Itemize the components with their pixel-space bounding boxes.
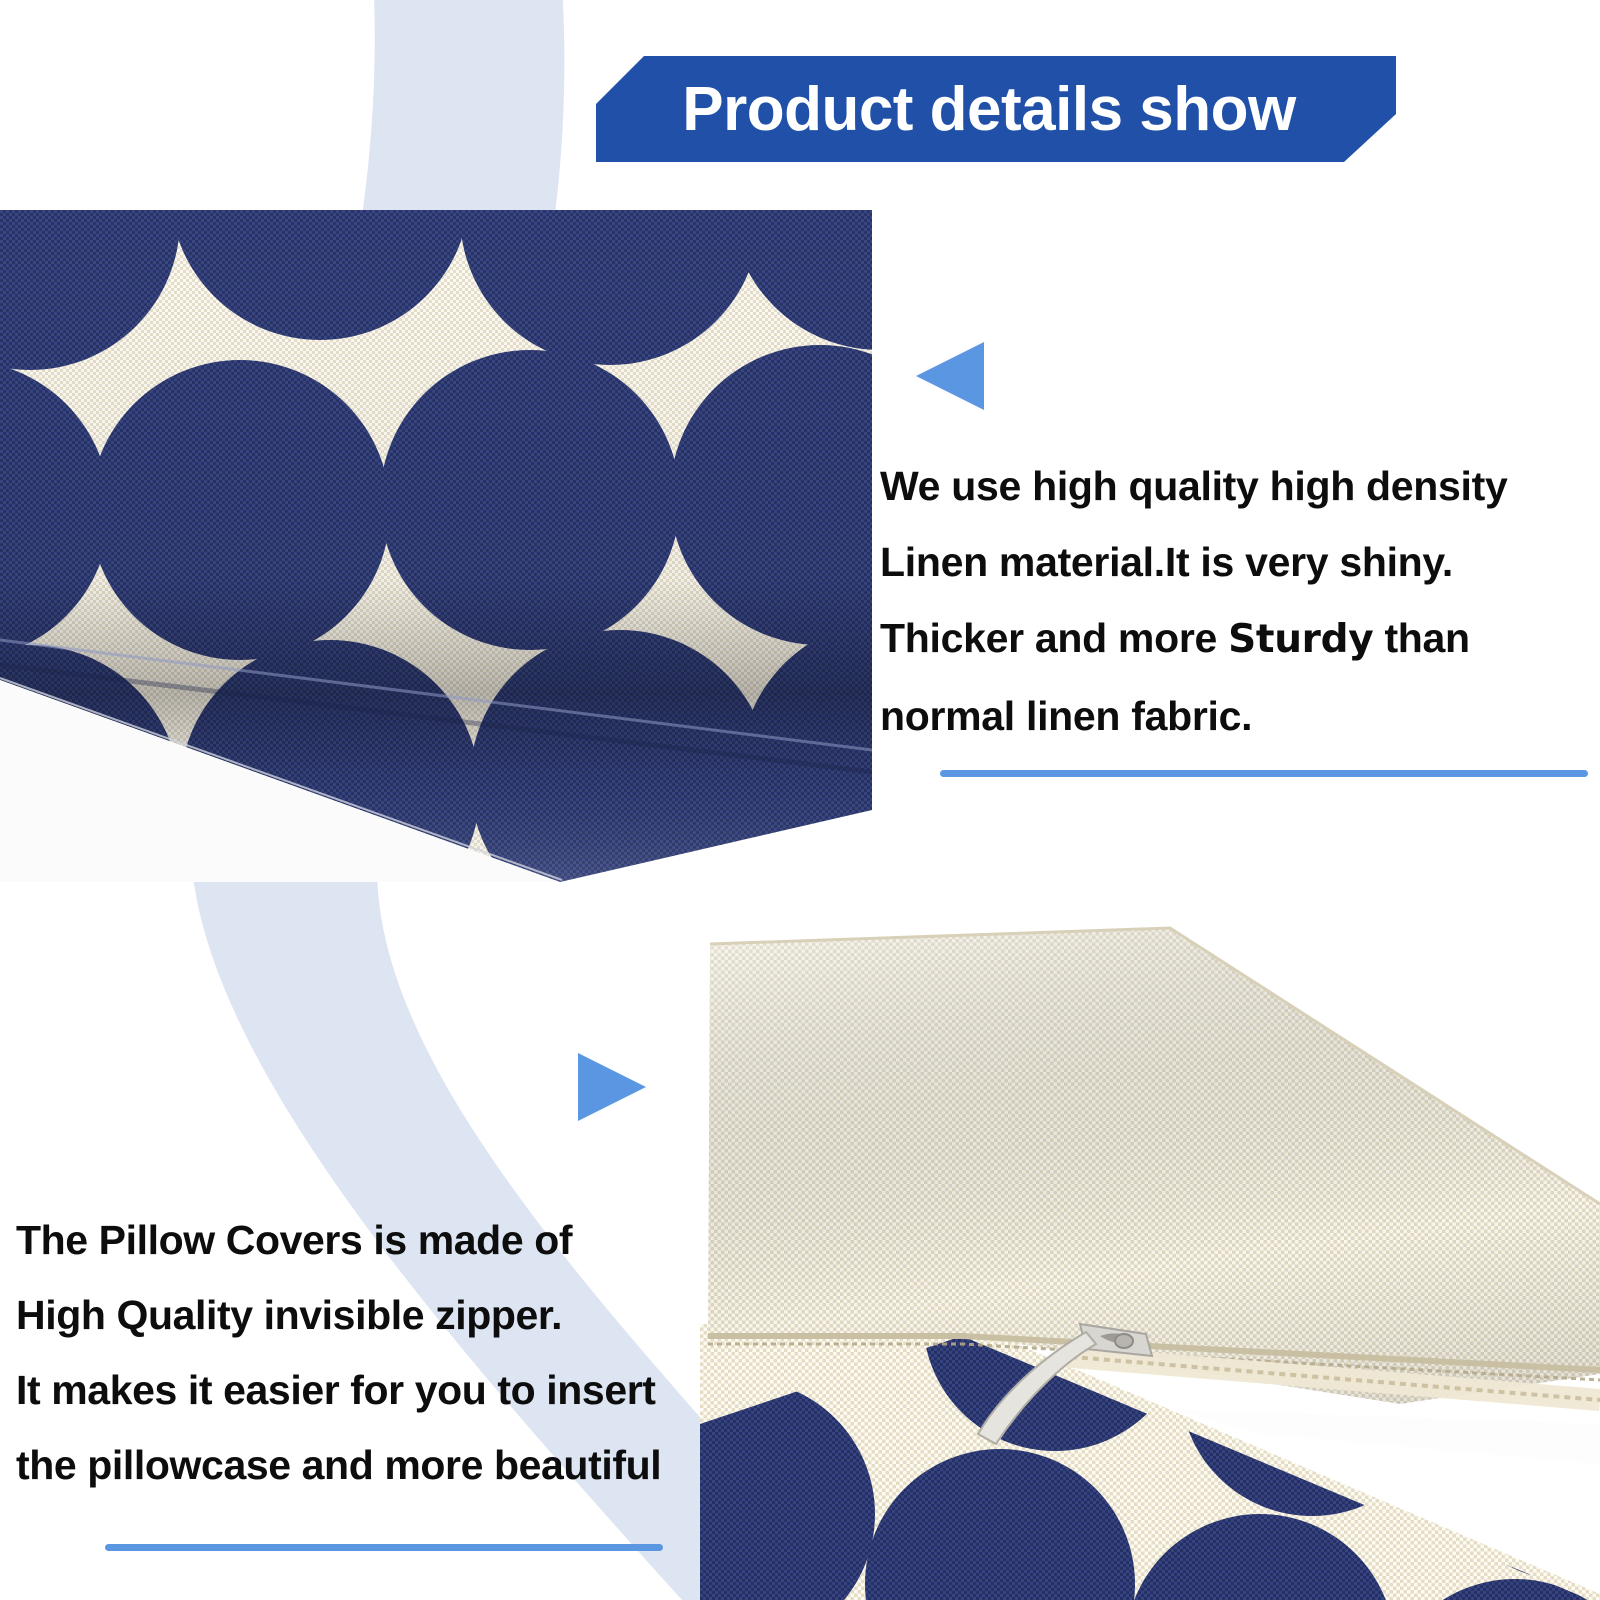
zipper-line-3: It makes it easier for you to insert bbox=[16, 1353, 661, 1428]
section-divider-bottom bbox=[105, 1544, 663, 1551]
triangle-right-icon bbox=[578, 1053, 646, 1121]
material-line-3-tail: than bbox=[1373, 615, 1469, 661]
material-description: We use high quality high density Linen m… bbox=[880, 448, 1507, 754]
section-divider-top bbox=[940, 770, 1588, 777]
material-line-4: normal linen fabric. bbox=[880, 678, 1507, 754]
zipper-line-4: the pillowcase and more beautiful bbox=[16, 1428, 661, 1503]
zipper-detail-photo bbox=[700, 904, 1600, 1600]
zipper-description: The Pillow Covers is made of High Qualit… bbox=[16, 1203, 661, 1503]
material-line-2: Linen material.It is very shiny. bbox=[880, 524, 1507, 600]
page-title: Product details show bbox=[596, 56, 1396, 162]
material-line-3: Thicker and more Sturdy than bbox=[880, 600, 1507, 678]
triangle-left-icon bbox=[916, 342, 984, 410]
material-line-3-head: Thicker and more bbox=[880, 615, 1228, 661]
material-emphasis-word: Sturdy bbox=[1228, 617, 1373, 662]
zipper-line-1: The Pillow Covers is made of bbox=[16, 1203, 661, 1278]
page-title-banner: Product details show bbox=[596, 56, 1396, 162]
fabric-detail-photo bbox=[0, 210, 872, 882]
zipper-line-2: High Quality invisible zipper. bbox=[16, 1278, 661, 1353]
material-line-1: We use high quality high density bbox=[880, 448, 1507, 524]
product-detail-page: Product details show bbox=[0, 0, 1600, 1600]
